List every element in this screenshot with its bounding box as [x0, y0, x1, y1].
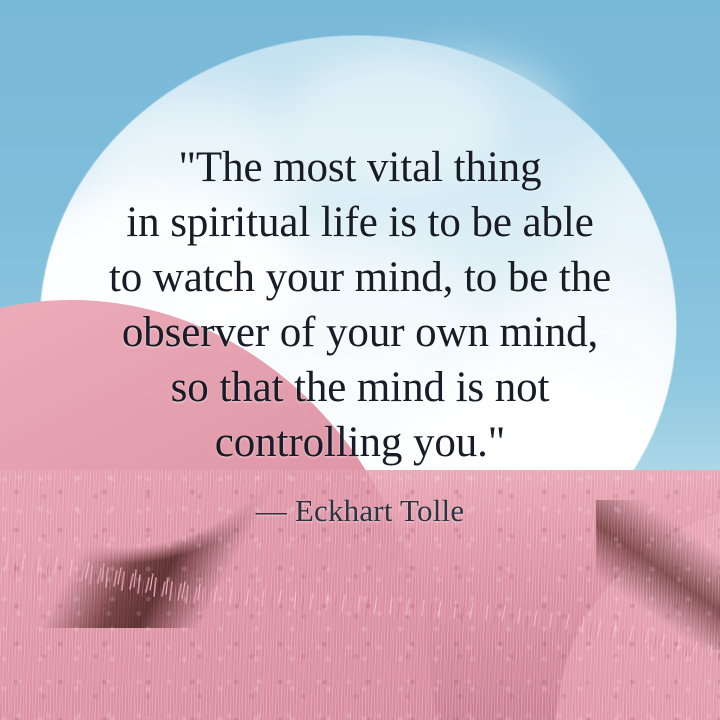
- quote-line-4: observer of your own mind,: [0, 305, 720, 360]
- quote-line-3: to watch your mind, to be the: [0, 250, 720, 305]
- quote-line-5: so that the mind is not: [0, 360, 720, 415]
- quote-image-canvas: "The most vital thing in spiritual life …: [0, 0, 720, 720]
- quote-line-1: "The most vital thing: [0, 140, 720, 195]
- quote-text: "The most vital thing in spiritual life …: [0, 140, 720, 470]
- quote-line-6: controlling you.": [0, 415, 720, 470]
- quote-attribution: — Eckhart Tolle: [0, 470, 720, 530]
- quote-block: "The most vital thing in spiritual life …: [0, 0, 720, 530]
- quote-line-2: in spiritual life is to be able: [0, 195, 720, 250]
